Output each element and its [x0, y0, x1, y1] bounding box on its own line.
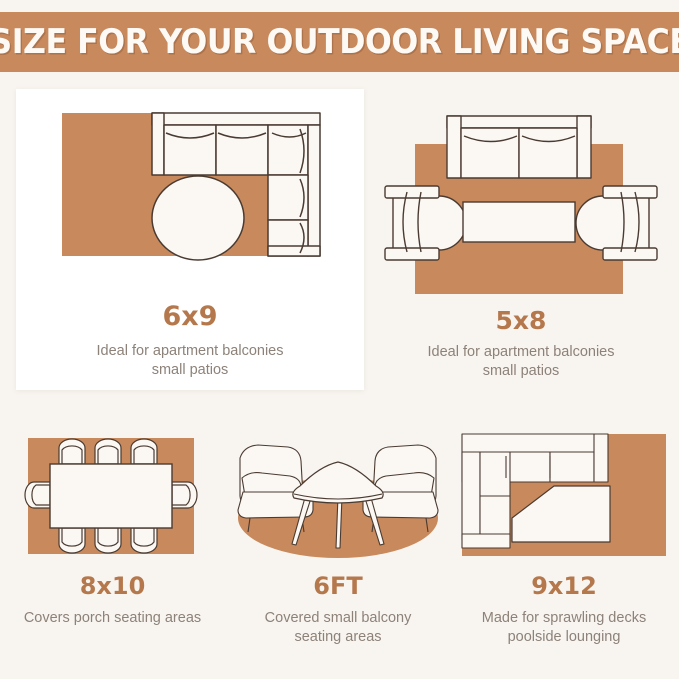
- panel-labels-6x9: 6x9 Ideal for apartment balconies small …: [16, 303, 364, 379]
- round-ottoman: [152, 176, 244, 260]
- page-title: SIZE FOR YOUR OUTDOOR LIVING SPACE: [0, 25, 679, 59]
- rug-illustration-6x9: [16, 89, 364, 285]
- panel-labels-6ft: 6FT Covered small balcony seating areas: [228, 574, 448, 646]
- rug-diagram-9x12: [456, 430, 672, 560]
- dining-chairs-top: [59, 439, 157, 464]
- size-label-6ft: 6FT: [228, 574, 448, 598]
- dining-chairs-bottom: [59, 528, 157, 553]
- rug-diagram-6x9: [16, 89, 364, 285]
- description-9x12: Made for sprawling decks poolside loungi…: [456, 609, 672, 646]
- panel-9x12[interactable]: 9x12 Made for sprawling decks poolside l…: [456, 430, 672, 670]
- rug-illustration-9x12: [456, 430, 672, 560]
- size-label-9x12: 9x12: [456, 574, 672, 598]
- size-label-5x8: 5x8: [375, 308, 667, 333]
- size-label-8x10: 8x10: [5, 574, 220, 598]
- rug-diagram-5x8: [375, 100, 667, 300]
- description-6ft: Covered small balcony seating areas: [228, 609, 448, 646]
- rug-diagram-6ft: [228, 430, 448, 560]
- description-6x9: Ideal for apartment balconies small pati…: [16, 342, 364, 379]
- coffee-table: [463, 202, 575, 242]
- panel-8x10[interactable]: 8x10 Covers porch seating areas: [5, 430, 220, 670]
- panel-labels-9x12: 9x12 Made for sprawling decks poolside l…: [456, 574, 672, 646]
- dining-table: [50, 464, 172, 528]
- panel-labels-8x10: 8x10 Covers porch seating areas: [5, 574, 220, 628]
- header-band: SIZE FOR YOUR OUTDOOR LIVING SPACE: [0, 12, 679, 72]
- sofa: [447, 116, 591, 178]
- description-8x10: Covers porch seating areas: [5, 609, 220, 628]
- description-5x8: Ideal for apartment balconies small pati…: [375, 343, 667, 380]
- rug-illustration-8x10: [5, 430, 220, 560]
- panel-5x8[interactable]: 5x8 Ideal for apartment balconies small …: [375, 100, 667, 370]
- rug-illustration-5x8: [375, 100, 667, 300]
- infographic-page: SIZE FOR YOUR OUTDOOR LIVING SPACE: [0, 0, 679, 679]
- rug-diagram-8x10: [5, 430, 220, 560]
- rug-illustration-6ft: [228, 430, 448, 560]
- size-label-6x9: 6x9: [16, 303, 364, 330]
- panel-6x9[interactable]: 6x9 Ideal for apartment balconies small …: [16, 89, 364, 390]
- panel-6ft[interactable]: 6FT Covered small balcony seating areas: [228, 430, 448, 670]
- panel-labels-5x8: 5x8 Ideal for apartment balconies small …: [375, 308, 667, 380]
